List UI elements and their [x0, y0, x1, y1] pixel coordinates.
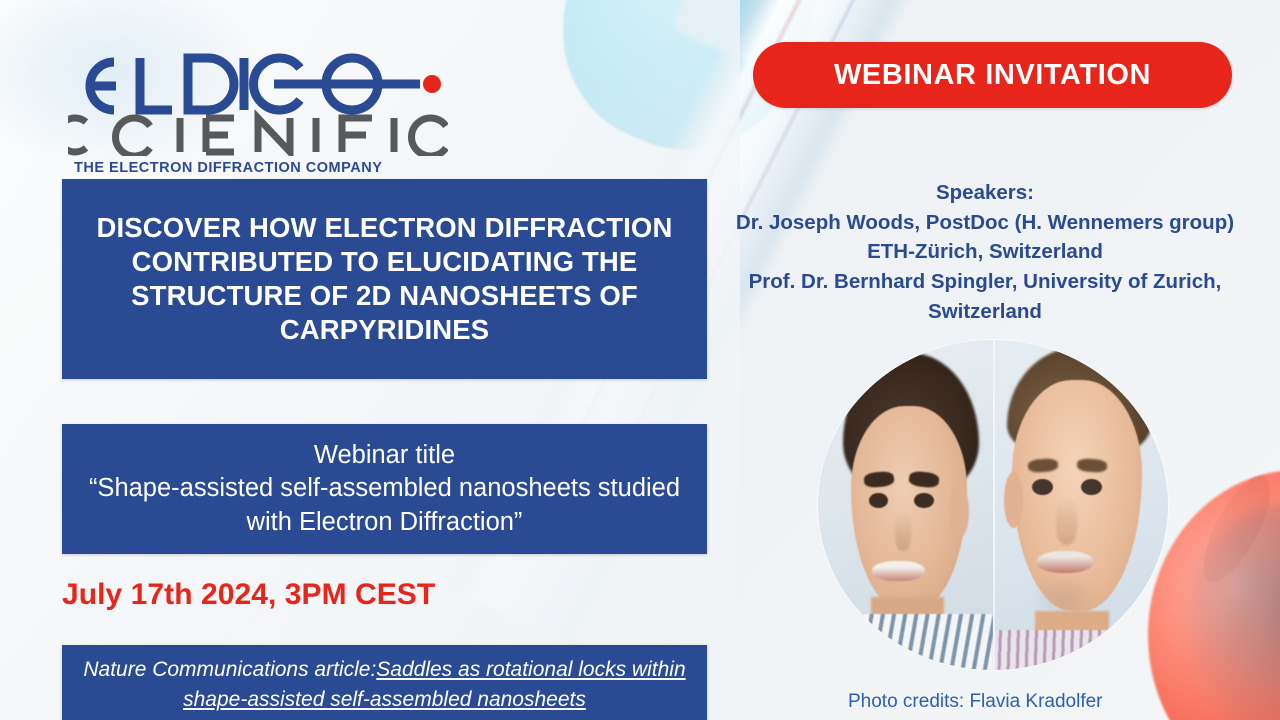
portrait-divider: [993, 340, 995, 670]
webinar-invitation-poster: THE ELECTRON DIFFRACTION COMPANY WEBINAR…: [0, 0, 1280, 720]
portrait-joseph-woods: [818, 340, 993, 670]
webinar-title-block: Webinar title “Shape-assisted self-assem…: [78, 439, 691, 538]
p2-checked-shirt: [993, 630, 1168, 670]
headline-text: DISCOVER HOW ELECTRON DIFFRACTION CONTRI…: [76, 211, 693, 347]
event-date: July 17th 2024, 3PM CEST: [62, 578, 435, 612]
p1-striped-shirt: [818, 614, 993, 670]
webinar-invitation-badge: WEBINAR INVITATION: [753, 42, 1232, 108]
photo-credit: Photo credits: Flavia Kradolfer: [848, 691, 1103, 713]
p2-eye-right: [1081, 479, 1102, 496]
speaker-line-4: Switzerland: [705, 297, 1265, 327]
article-prefix: Nature Communications article:: [83, 658, 376, 681]
red-vial-shading-icon: [1185, 505, 1280, 720]
webinar-title-panel: Webinar title “Shape-assisted self-assem…: [62, 424, 707, 554]
article-reference-text: Nature Communications article:Saddles as…: [76, 655, 693, 716]
tube-rim-icon: [1191, 467, 1280, 591]
portrait-bernhard-spingler: [993, 340, 1168, 670]
p1-ear: [949, 485, 968, 538]
p1-eye-right: [914, 493, 933, 508]
speaker-line-2: ETH-Zürich, Switzerland: [705, 237, 1265, 267]
p1-mouth: [872, 561, 925, 581]
p1-nose: [895, 512, 911, 552]
webinar-title-text: “Shape-assisted self-assembled nanosheet…: [78, 472, 691, 538]
p2-nose: [1056, 498, 1077, 544]
article-reference-panel: Nature Communications article:Saddles as…: [62, 645, 707, 720]
webinar-title-label: Webinar title: [78, 439, 691, 472]
p2-mouth: [1037, 551, 1093, 572]
p2-ear: [1004, 472, 1023, 528]
eldico-logo: THE ELECTRON DIFFRACTION COMPANY: [68, 48, 448, 176]
logo-tagline: THE ELECTRON DIFFRACTION COMPANY: [74, 160, 448, 176]
p2-eye-left: [1032, 479, 1053, 496]
badge-label: WEBINAR INVITATION: [834, 59, 1151, 92]
headline-panel: DISCOVER HOW ELECTRON DIFFRACTION CONTRI…: [62, 179, 707, 379]
speakers-block: Speakers: Dr. Joseph Woods, PostDoc (H. …: [705, 178, 1265, 327]
speaker-line-1: Dr. Joseph Woods, PostDoc (H. Wennemers …: [705, 208, 1265, 238]
logo-red-dot-icon: [423, 75, 441, 93]
speakers-heading: Speakers:: [705, 178, 1265, 208]
speaker-portraits: [818, 340, 1168, 670]
speaker-line-3: Prof. Dr. Bernhard Spingler, University …: [705, 267, 1265, 297]
eldico-scientific-wordmark-icon: [68, 48, 448, 156]
